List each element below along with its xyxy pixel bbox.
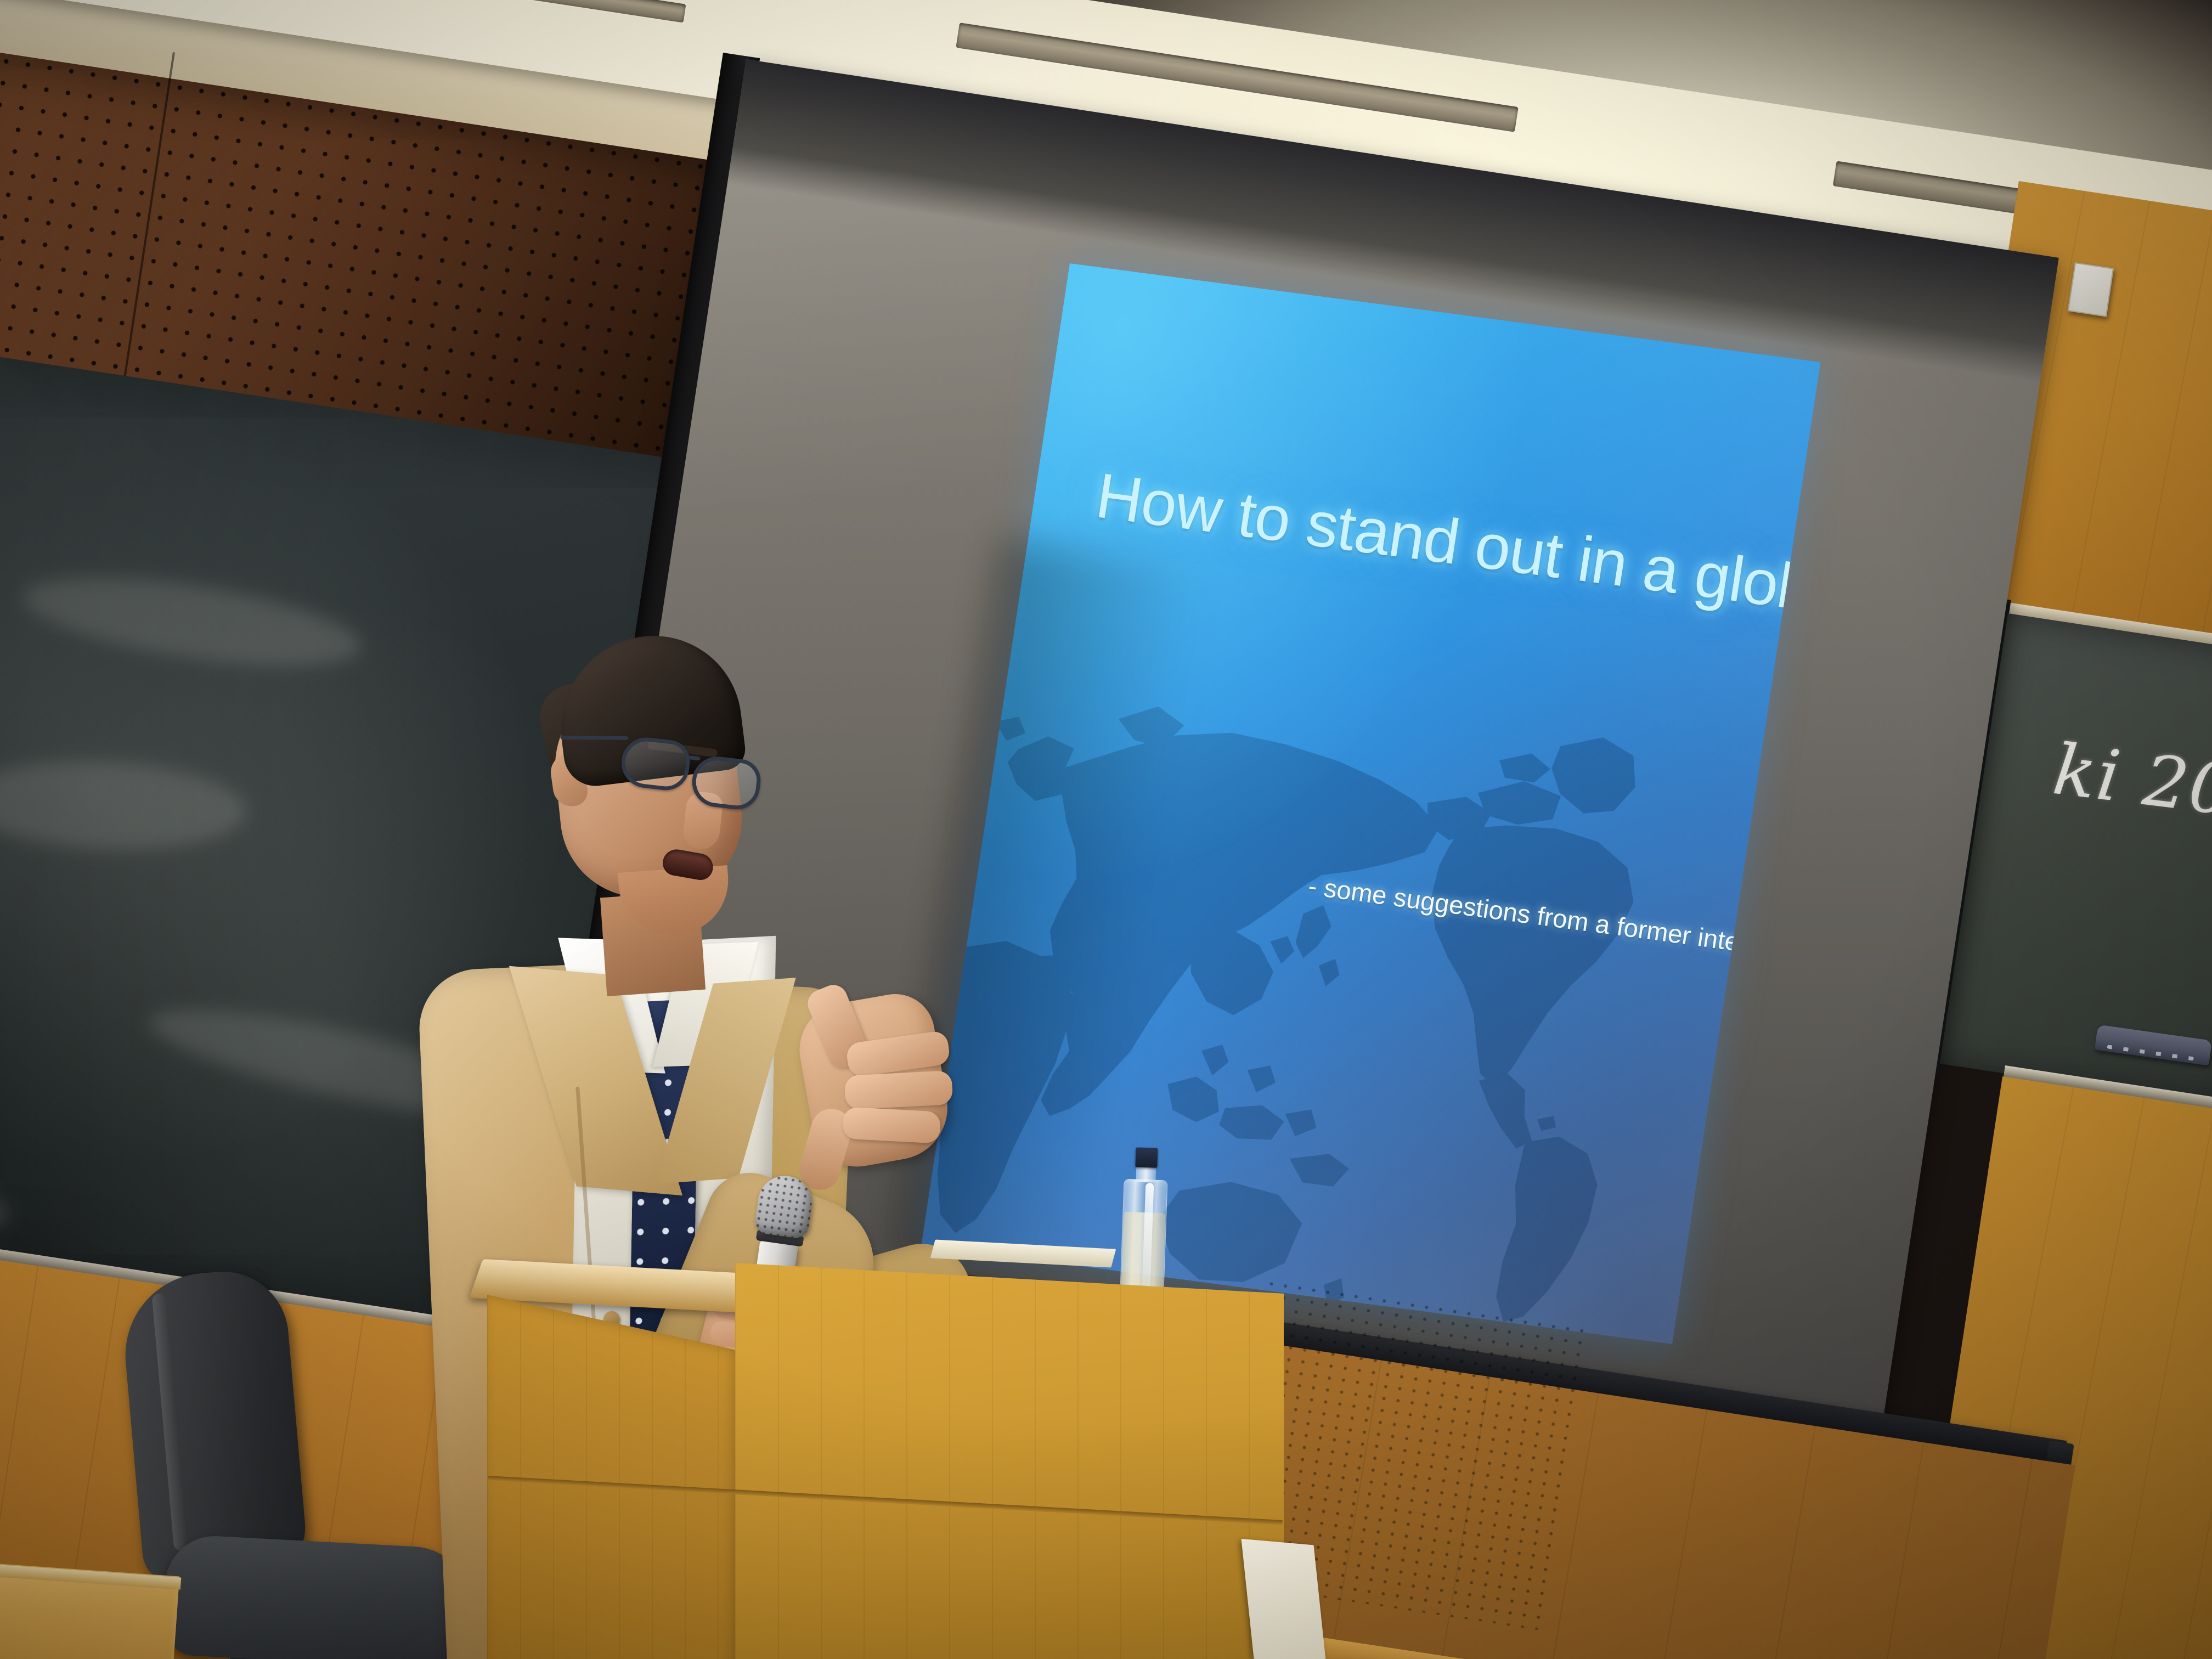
bottle-neck [1136, 1165, 1156, 1182]
wall-plate [2068, 262, 2114, 317]
projected-slide: How to stand out in a global era - some … [921, 263, 1820, 1344]
gesturing-hand-finger [844, 1070, 953, 1110]
water-bottle[interactable] [1116, 1147, 1172, 1292]
eyeglass-lens-right [690, 754, 763, 811]
podium-front-panel [735, 1263, 1284, 1659]
eyeglass-temple-arm [560, 736, 628, 740]
chalk-smudge [0, 755, 248, 855]
bottle-cap[interactable] [1135, 1147, 1158, 1167]
chalk-smudge [0, 1168, 12, 1240]
gesturing-hand-finger [842, 1107, 941, 1143]
lecture-hall-photo: ki 2025 [0, 0, 2212, 1659]
chair-seat[interactable] [162, 1533, 475, 1659]
eyeglass-lens-left [619, 735, 692, 792]
podium-side-panel [487, 1295, 740, 1659]
microphone-grille [754, 1172, 815, 1240]
world-map-graphic [921, 566, 1785, 1344]
paper-beside-podium[interactable] [1242, 1539, 1327, 1659]
chalk-smudge [19, 561, 366, 682]
